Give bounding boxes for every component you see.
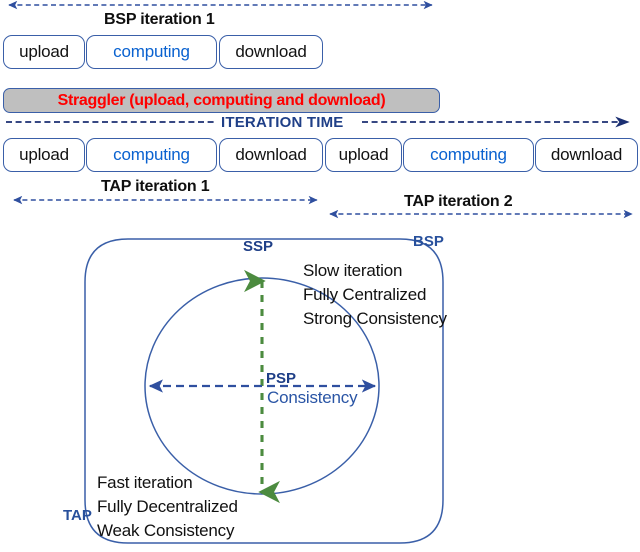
- bsp-iteration-label: BSP iteration 1: [104, 12, 215, 28]
- attribute-weak-consistency: Weak Consistency: [97, 522, 234, 539]
- figure-canvas: BSP iteration 1 upload computing downloa…: [0, 0, 640, 552]
- stage-box-upload-3[interactable]: upload: [325, 138, 402, 172]
- stage-box-computing-2[interactable]: computing: [86, 138, 217, 172]
- attribute-fully-decentralized: Fully Decentralized: [97, 498, 238, 515]
- stage-box-download-2[interactable]: download: [219, 138, 323, 172]
- tap-iteration-1-label: TAP iteration 1: [101, 179, 209, 195]
- attribute-fully-centralized: Fully Centralized: [303, 286, 426, 303]
- stage-box-computing-1[interactable]: computing: [86, 35, 217, 69]
- stage-box-download-1[interactable]: download: [219, 35, 323, 69]
- psp-label: PSP: [266, 371, 296, 386]
- tap-label: TAP: [63, 508, 92, 523]
- ssp-label: SSP: [243, 239, 273, 254]
- stage-box-upload-1[interactable]: upload: [3, 35, 85, 69]
- straggler-bar[interactable]: Straggler (upload, computing and downloa…: [3, 88, 440, 113]
- attribute-fast-iteration: Fast iteration: [97, 474, 192, 491]
- stage-box-download-3[interactable]: download: [535, 138, 638, 172]
- stage-box-computing-3[interactable]: computing: [403, 138, 534, 172]
- consistency-label: Consistency: [267, 389, 357, 406]
- bsp-label: BSP: [413, 234, 444, 249]
- tap-iteration-2-label: TAP iteration 2: [404, 194, 512, 210]
- stage-box-upload-2[interactable]: upload: [3, 138, 85, 172]
- attribute-slow-iteration: Slow iteration: [303, 262, 402, 279]
- iteration-time-label: ITERATION TIME: [221, 115, 344, 130]
- attribute-strong-consistency: Strong Consistency: [303, 310, 447, 327]
